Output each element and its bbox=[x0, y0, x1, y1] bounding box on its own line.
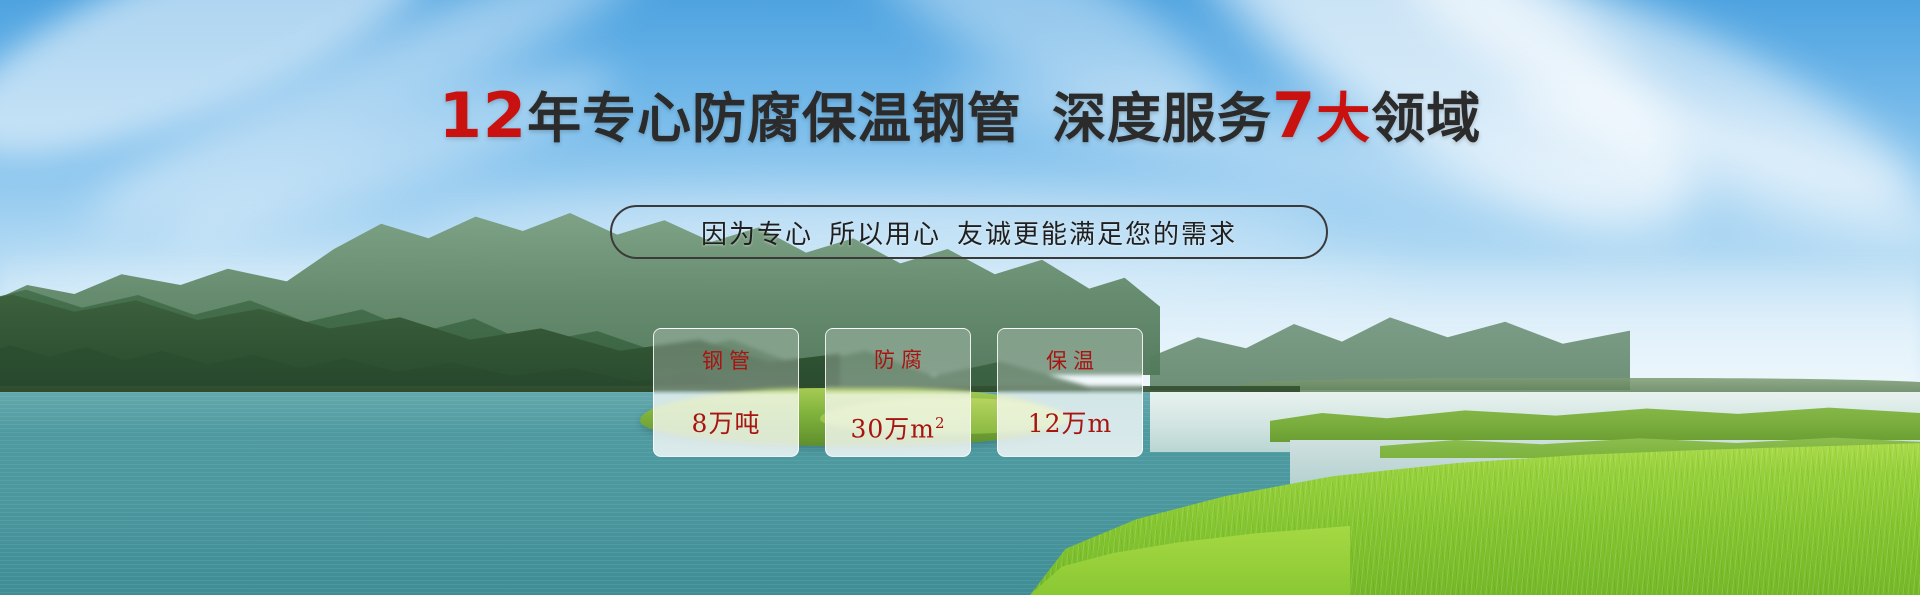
stat-card-steel-pipe[interactable]: 钢管 8万吨 bbox=[653, 328, 799, 457]
stat-card-label: 保温 bbox=[1040, 329, 1100, 393]
headline-years-number: 12 bbox=[439, 79, 527, 152]
stat-card-value: 30万m2 bbox=[850, 392, 945, 457]
headline-fields-number: 7 bbox=[1272, 79, 1316, 152]
stat-card-label: 钢管 bbox=[696, 329, 756, 393]
hero-banner: 12年专心防腐保温钢管深度服务7大领域 因为专心 所以用心 友诚更能满足您的需求… bbox=[0, 0, 1920, 595]
stat-card-value-main: 30万m bbox=[850, 414, 935, 443]
page-title: 12年专心防腐保温钢管深度服务7大领域 bbox=[0, 86, 1920, 149]
stat-card-insulation[interactable]: 保温 12万m bbox=[997, 328, 1143, 457]
stat-card-group: 钢管 8万吨 防腐 30万m2 保温 12万m bbox=[653, 328, 1145, 457]
stat-card-value: 12万m bbox=[1028, 393, 1113, 456]
subtitle-part-3: 友诚更能满足您的需求 bbox=[957, 214, 1237, 251]
cloud-shape bbox=[153, 40, 628, 270]
stat-card-value-main: 12万m bbox=[1028, 409, 1113, 438]
stat-card-label: 防腐 bbox=[868, 328, 928, 392]
stat-card-anticorrosion[interactable]: 防腐 30万m2 bbox=[825, 328, 971, 457]
headline-fields-measure: 大 bbox=[1316, 87, 1371, 150]
headline-service-text: 深度服务 bbox=[1052, 87, 1272, 150]
headline-main-text: 年专心防腐保温钢管 bbox=[527, 87, 1022, 150]
subtitle-pill: 因为专心 所以用心 友诚更能满足您的需求 bbox=[610, 205, 1328, 259]
subtitle-part-1: 因为专心 bbox=[701, 214, 813, 251]
subtitle-part-2: 所以用心 bbox=[829, 214, 941, 251]
stat-card-value-superscript: 2 bbox=[935, 414, 946, 432]
stat-card-value-main: 8万吨 bbox=[692, 409, 761, 438]
headline-fields-text: 领域 bbox=[1371, 87, 1481, 150]
stat-card-value: 8万吨 bbox=[692, 393, 761, 456]
